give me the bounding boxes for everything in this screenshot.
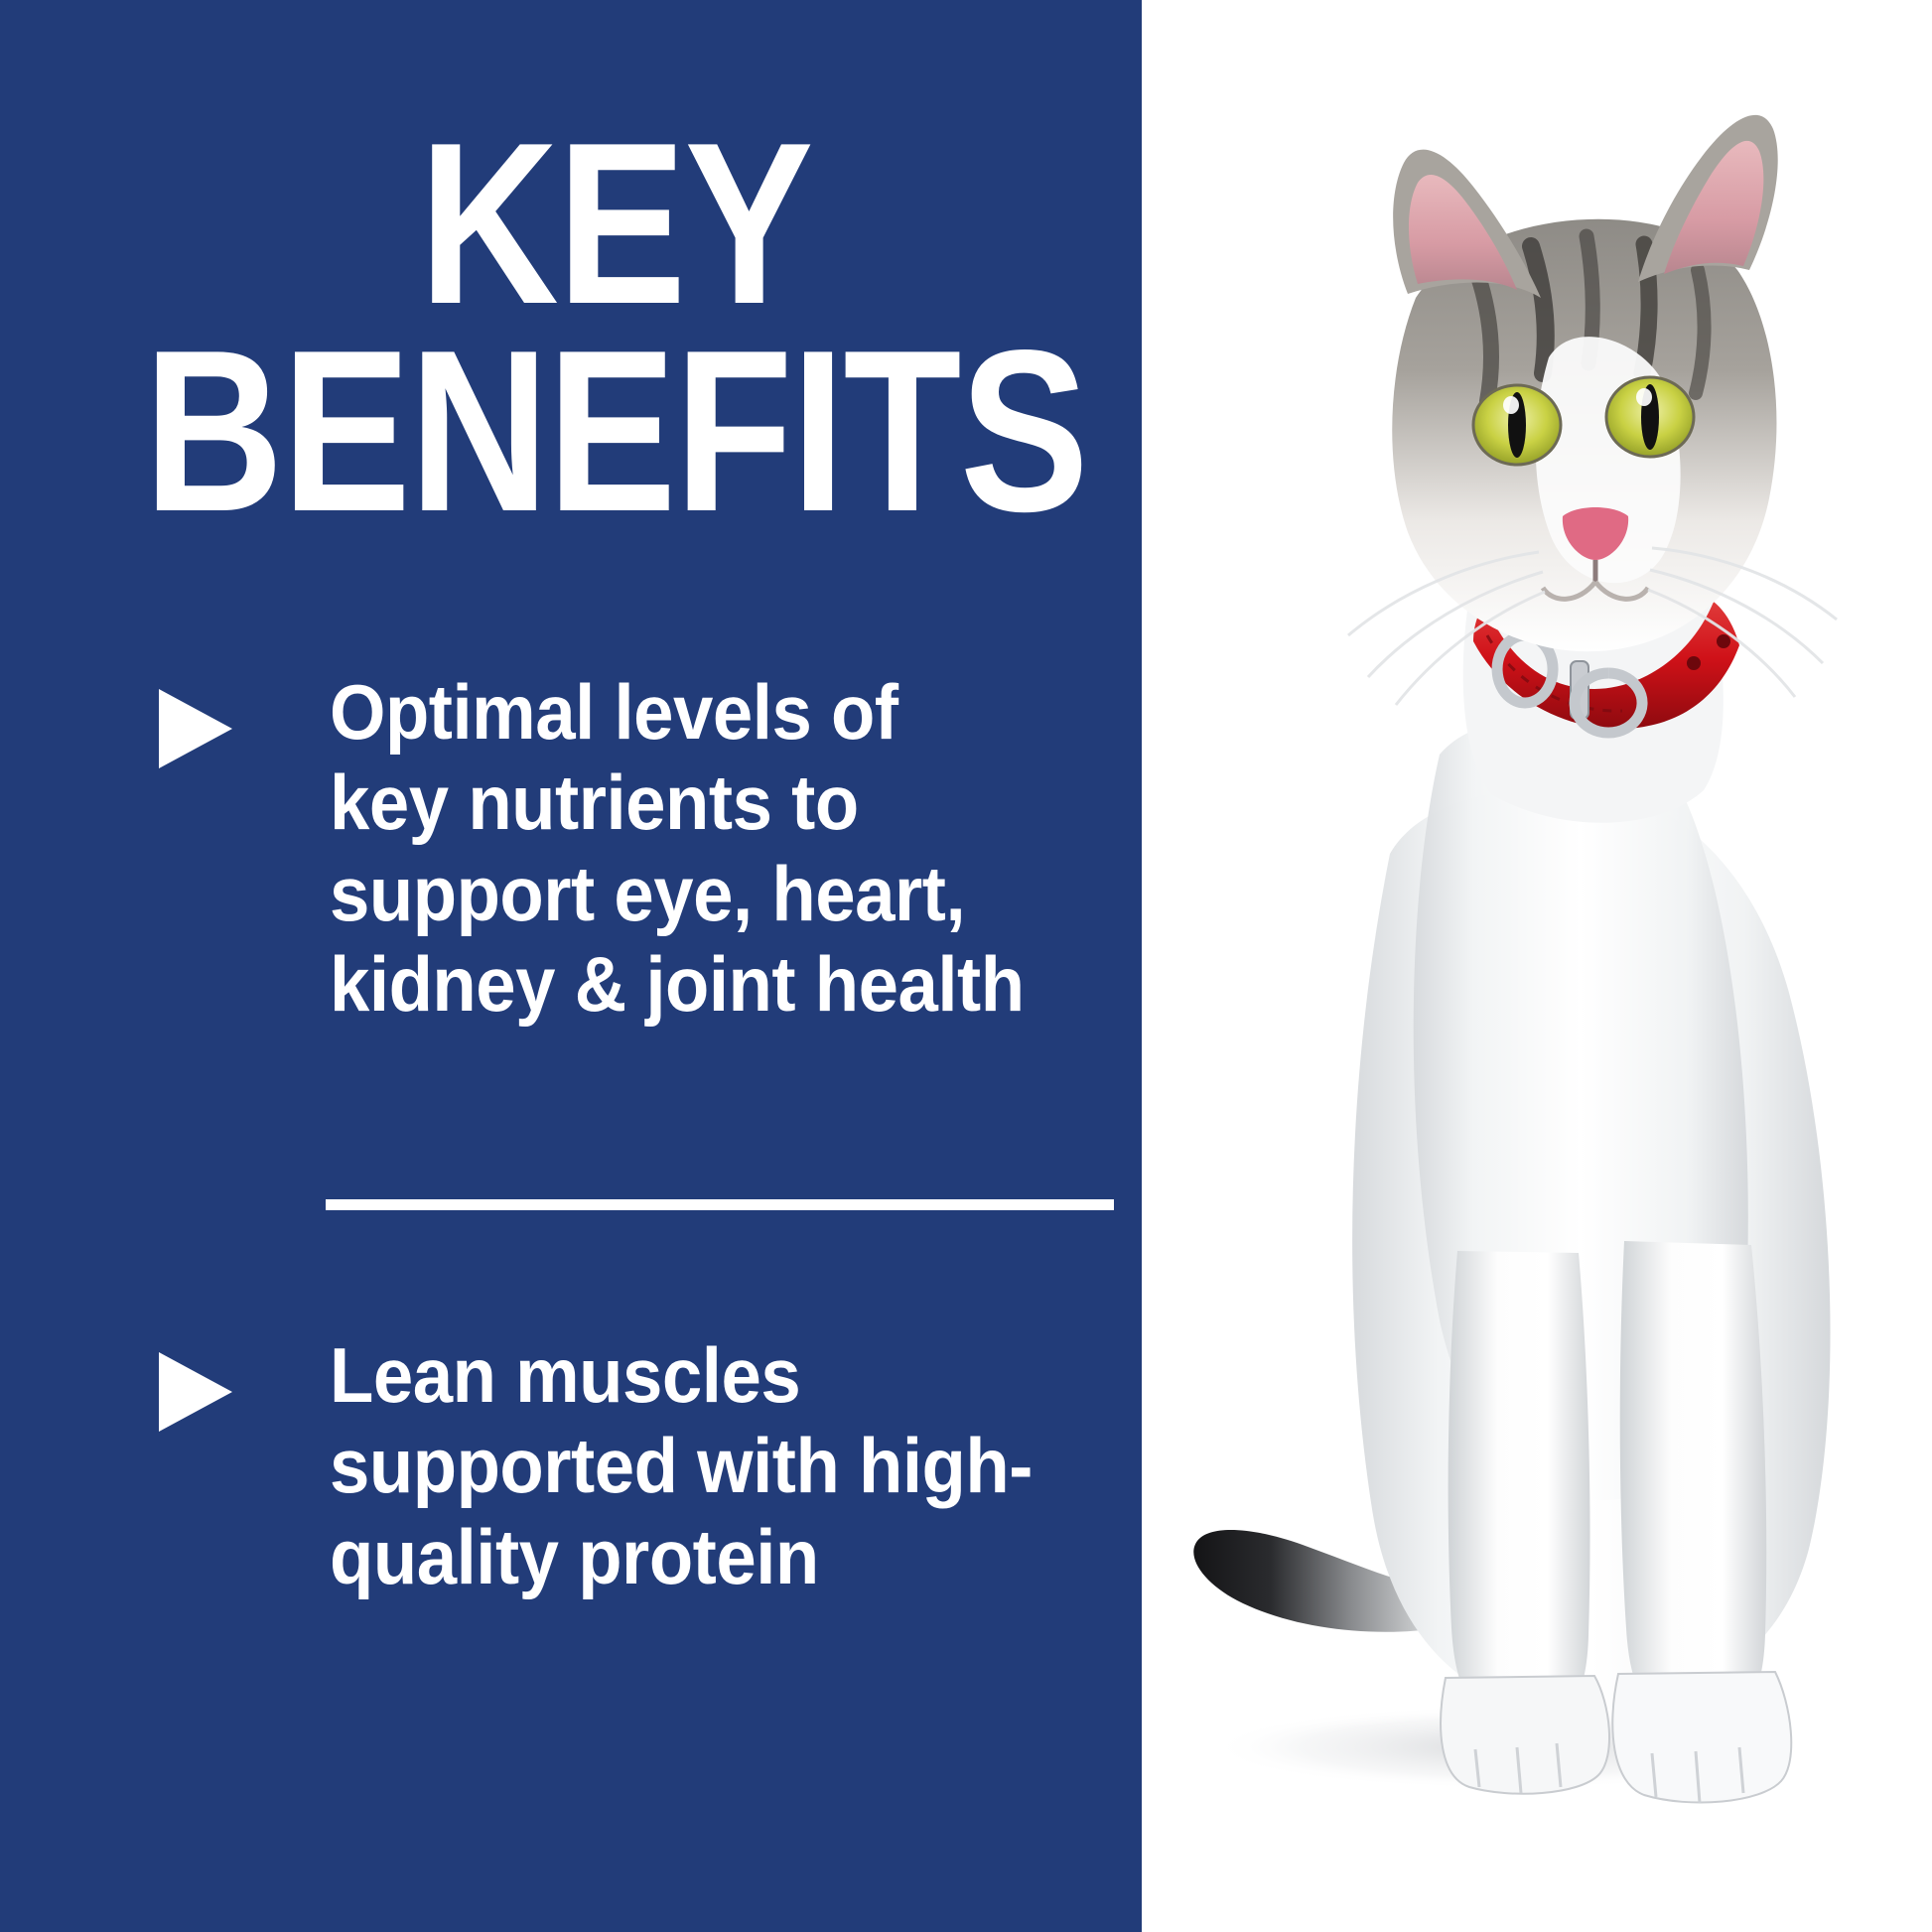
title-line-1: KEY (98, 121, 1133, 329)
benefits-divider (326, 1199, 1114, 1210)
promo-card: KEY BENEFITS Optimal levels of key nutri… (0, 0, 1932, 1932)
cat-photo (1142, 0, 1932, 1932)
page-title: KEY BENEFITS (0, 121, 1231, 536)
benefit-item-1: Optimal levels of key nutrients to suppo… (0, 667, 1231, 1030)
triangle-right-icon (159, 689, 232, 768)
triangle-right-icon (159, 1352, 232, 1432)
benefit-item-1-text: Optimal levels of key nutrients to suppo… (330, 667, 1032, 1030)
benefit-item-2: Lean muscles supported with high-quality… (0, 1330, 1231, 1602)
title-line-2: BENEFITS (98, 329, 1133, 536)
benefit-item-2-text: Lean muscles supported with high-quality… (330, 1330, 1068, 1602)
